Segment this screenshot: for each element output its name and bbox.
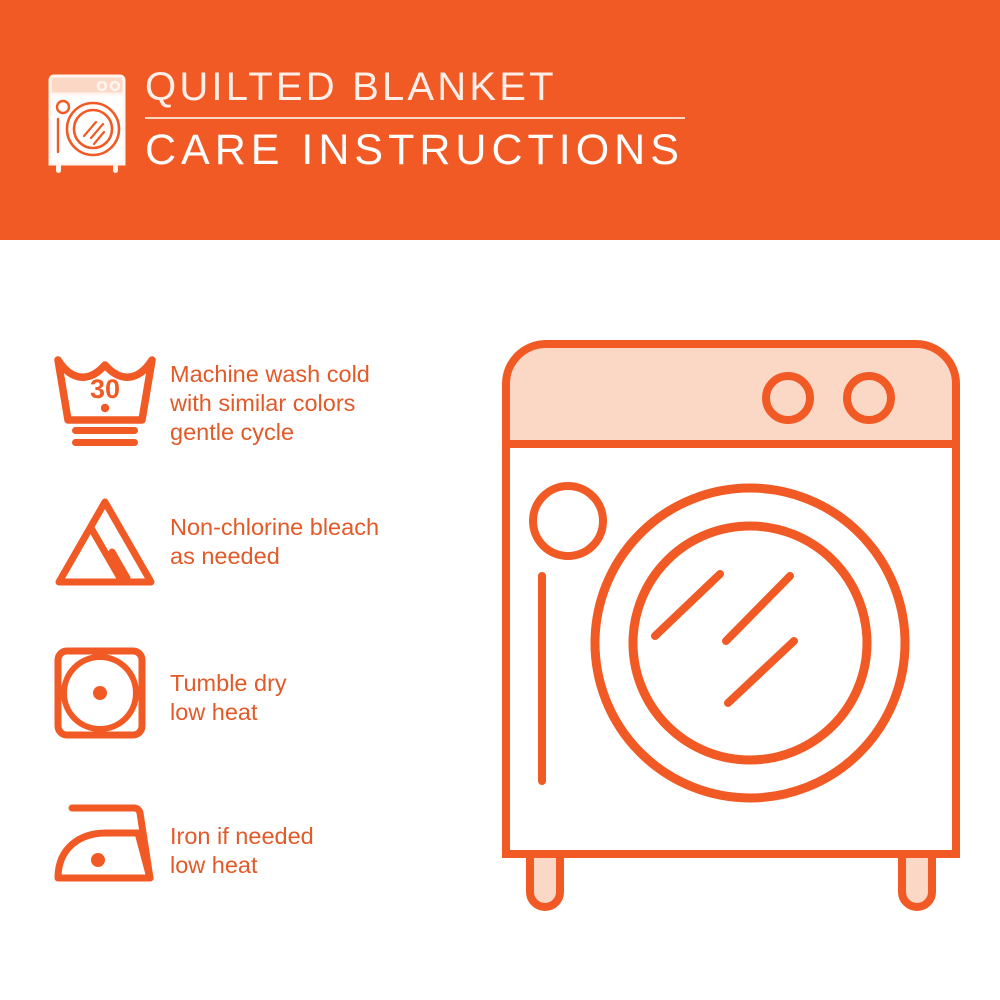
page-title-product: QUILTED BLANKET [145, 62, 705, 112]
header-title-group: QUILTED BLANKET CARE INSTRUCTIONS [145, 62, 705, 177]
care-text-wash: Machine wash cold with similar colors ge… [170, 348, 370, 447]
title-divider [145, 117, 685, 119]
wash-temperature-label: 30 [90, 374, 120, 404]
leg-left [530, 854, 560, 907]
care-text-bleach: Non-chlorine bleach as needed [170, 495, 379, 571]
iron-icon [50, 800, 170, 890]
page-title-main: CARE INSTRUCTIONS [145, 123, 705, 177]
care-text-dry: Tumble dry low heat [170, 645, 287, 727]
care-row-bleach: Non-chlorine bleach as needed [50, 495, 470, 590]
wash-tub-icon: 30 [50, 348, 170, 453]
washing-machine-illustration [498, 336, 964, 932]
leg-right [902, 854, 932, 907]
care-text-iron: Iron if needed low heat [170, 800, 314, 880]
care-row-wash: 30 Machine wash cold with similar colors… [50, 348, 470, 453]
washing-machine-logo-icon [44, 66, 140, 178]
bleach-triangle-icon [50, 495, 170, 590]
care-row-iron: Iron if needed low heat [50, 800, 470, 890]
tumble-dry-icon [50, 645, 170, 740]
care-row-dry: Tumble dry low heat [50, 645, 470, 740]
header-banner: QUILTED BLANKET CARE INSTRUCTIONS [0, 0, 1000, 240]
